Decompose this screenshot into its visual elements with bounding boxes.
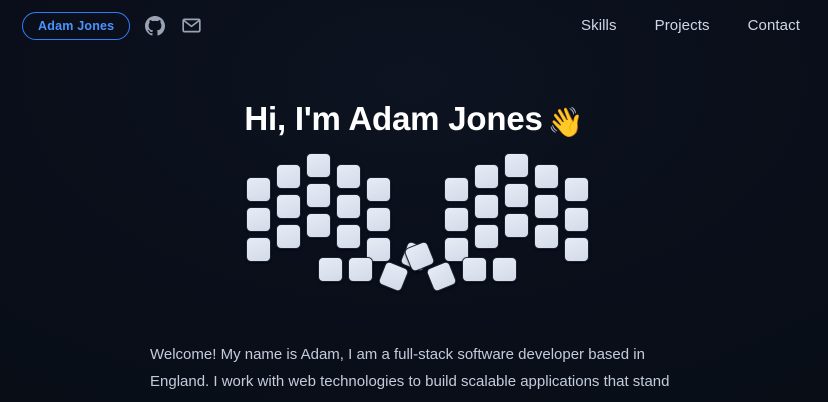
keyboard-key	[534, 224, 559, 249]
keyboard-key	[564, 177, 589, 202]
keyboard-key	[474, 224, 499, 249]
keyboard-key	[462, 257, 487, 282]
keyboard-left-half	[240, 140, 420, 285]
intro-paragraph: Welcome! My name is Adam, I am a full-st…	[150, 341, 682, 402]
keyboard-key	[246, 237, 271, 262]
keyboard-key	[246, 207, 271, 232]
keyboard-key	[246, 177, 271, 202]
keyboard-key	[474, 194, 499, 219]
nav-link-skills[interactable]: Skills	[581, 17, 617, 34]
keyboard-right-half	[415, 140, 595, 285]
keyboard-key	[444, 177, 469, 202]
keyboard-key	[564, 237, 589, 262]
keyboard-key	[444, 207, 469, 232]
page-title: Hi, I'm Adam Jones👋	[0, 100, 828, 140]
keyboard-key	[318, 257, 343, 282]
keyboard-key	[504, 213, 529, 238]
keyboard-key	[474, 164, 499, 189]
navbar: Adam Jones Skills Projects Contact	[0, 0, 828, 51]
keyboard-key	[366, 177, 391, 202]
keyboard-key	[306, 183, 331, 208]
keyboard-key	[276, 224, 301, 249]
keyboard-key	[366, 207, 391, 232]
keyboard-key	[534, 194, 559, 219]
keyboard-key	[336, 224, 361, 249]
name-badge[interactable]: Adam Jones	[22, 12, 130, 40]
mail-icon[interactable]	[180, 15, 202, 37]
keyboard-key	[336, 164, 361, 189]
keyboard-illustration	[0, 140, 828, 285]
waving-hand-icon: 👋	[548, 107, 584, 139]
nav-link-contact[interactable]: Contact	[748, 17, 800, 34]
keyboard-key	[306, 213, 331, 238]
keyboard-key	[492, 257, 517, 282]
navbar-left-group: Adam Jones	[22, 12, 202, 40]
keyboard-key	[348, 257, 373, 282]
navbar-links: Skills Projects Contact	[581, 17, 800, 34]
keyboard-key	[534, 164, 559, 189]
keyboard-key	[564, 207, 589, 232]
keyboard-key	[276, 194, 301, 219]
keyboard-key	[306, 153, 331, 178]
keyboard-key	[336, 194, 361, 219]
nav-link-projects[interactable]: Projects	[655, 17, 710, 34]
page-title-text: Hi, I'm Adam Jones	[244, 100, 542, 137]
page-root: Adam Jones Skills Projects Contact Hi, I…	[0, 0, 828, 402]
github-icon[interactable]	[144, 15, 166, 37]
keyboard-key	[504, 153, 529, 178]
keyboard-key	[276, 164, 301, 189]
keyboard-key	[504, 183, 529, 208]
